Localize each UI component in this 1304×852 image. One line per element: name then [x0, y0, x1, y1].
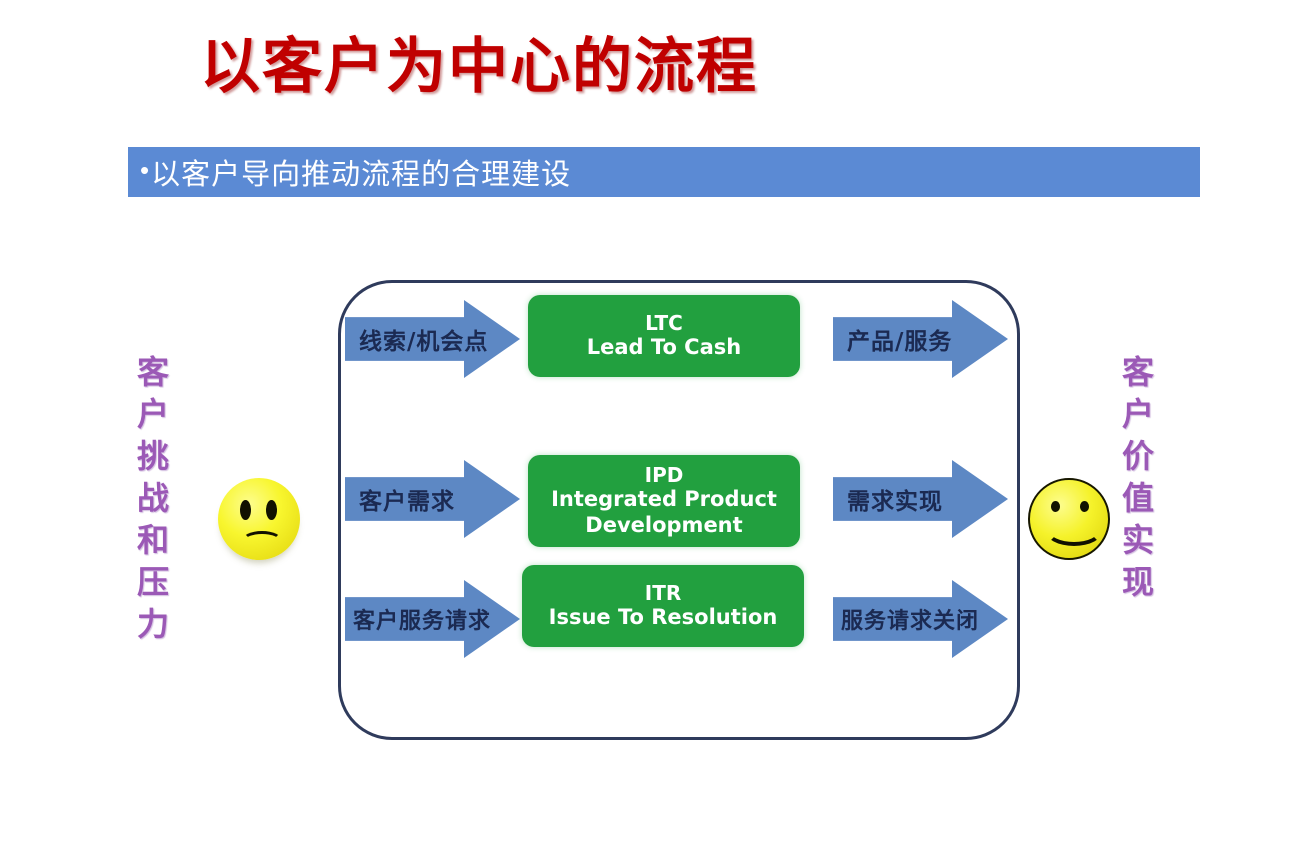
process-box-ltc: LTC Lead To Cash: [528, 295, 800, 377]
input-arrow-lead: 线索/机会点: [345, 300, 520, 378]
subtitle-banner: • 以客户导向推动流程的合理建设: [128, 147, 1200, 197]
right-side-label: 客户价值实现: [1120, 355, 1152, 607]
output-arrow-product: 产品/服务: [833, 300, 1008, 378]
output-arrow-service-closed: 服务请求关闭: [833, 580, 1008, 658]
output-arrow-requirement-fulfilled: 需求实现: [833, 460, 1008, 538]
output-arrow-label: 产品/服务: [833, 322, 952, 356]
input-arrow-label: 客户服务请求: [345, 603, 491, 635]
sad-face-left-eye-icon: [240, 500, 251, 520]
input-arrow-requirement: 客户需求: [345, 460, 520, 538]
happy-face-icon: [1028, 478, 1110, 560]
output-arrow-label: 需求实现: [833, 482, 943, 516]
page-title: 以客户为中心的流程: [200, 18, 758, 105]
input-arrow-service-request: 客户服务请求: [345, 580, 520, 658]
process-box-itr: ITR Issue To Resolution: [522, 565, 804, 647]
process-code: IPD: [645, 464, 684, 487]
left-side-label: 客户挑战和压力: [135, 355, 167, 649]
sad-face-right-eye-icon: [266, 500, 277, 520]
process-name: Integrated Product: [551, 487, 777, 512]
sad-face-icon: [218, 478, 300, 560]
output-arrow-label: 服务请求关闭: [833, 603, 979, 635]
process-diagram: 客户挑战和压力 线索/机会点 客户需求 客户服务请求 LTC Lead To C…: [0, 240, 1304, 800]
happy-face-left-eye-icon: [1051, 501, 1060, 512]
input-arrow-label: 线索/机会点: [345, 322, 488, 356]
input-arrow-label: 客户需求: [345, 482, 455, 516]
process-code: LTC: [645, 312, 683, 335]
sad-face-mouth-icon: [242, 531, 282, 550]
process-name: Issue To Resolution: [549, 605, 778, 630]
happy-face-right-eye-icon: [1080, 501, 1089, 512]
process-code: ITR: [645, 582, 681, 605]
process-name-line2: Development: [585, 513, 742, 538]
happy-face-mouth-icon: [1045, 514, 1103, 546]
process-name: Lead To Cash: [587, 335, 741, 360]
subtitle-text: 以客户导向推动流程的合理建设: [151, 151, 571, 193]
bullet-icon: •: [140, 157, 149, 183]
process-box-ipd: IPD Integrated Product Development: [528, 455, 800, 547]
